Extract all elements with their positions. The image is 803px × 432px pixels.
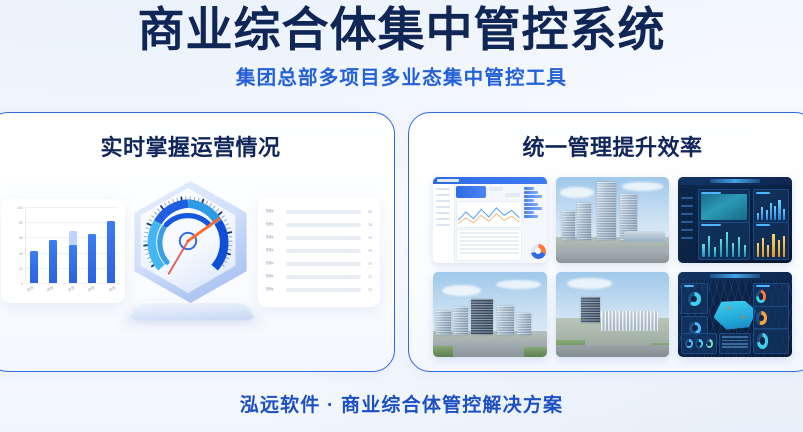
operations-card[interactable]: 实时掌握运营情况 100 80 60 bbox=[0, 112, 395, 372]
greenery-shape bbox=[524, 347, 547, 357]
bar-chart-bar bbox=[107, 221, 115, 283]
progress-row-label: 指标 bbox=[266, 287, 283, 292]
gauge-dial-icon bbox=[140, 193, 236, 289]
progress-list-row: 指标70 bbox=[266, 231, 372, 244]
thumb-board-title bbox=[710, 179, 760, 183]
bar-chart-ytick: 80 bbox=[19, 221, 23, 225]
building-shape bbox=[453, 307, 468, 335]
mini-bar-chart: 100 80 60 40 20 bbox=[1, 199, 125, 303]
thumb-nav-item bbox=[436, 218, 450, 220]
podium-shape bbox=[624, 231, 665, 242]
progress-row-label: 指标 bbox=[266, 274, 283, 279]
donut-gauge-icon bbox=[685, 339, 693, 348]
thumb-nav-item bbox=[681, 205, 693, 207]
thumb-map-image bbox=[701, 194, 747, 220]
thumb-titlebar bbox=[433, 177, 547, 184]
thumb-titlebar bbox=[678, 272, 792, 280]
thumb-table-row bbox=[459, 232, 519, 234]
gauge-pedestal bbox=[127, 302, 256, 321]
thumb-nav-item bbox=[436, 206, 450, 208]
cloud-shape bbox=[622, 182, 663, 191]
building-shape bbox=[471, 299, 494, 335]
management-card[interactable]: 统一管理提升效率 bbox=[408, 112, 803, 372]
thumb-nav-item bbox=[436, 194, 450, 196]
thumb-nav-item bbox=[436, 188, 450, 190]
thumb-bar bbox=[778, 200, 780, 221]
progress-row-track bbox=[286, 262, 361, 266]
thumb-bar bbox=[766, 210, 768, 220]
thumb-bar bbox=[726, 232, 728, 257]
building-shape bbox=[517, 313, 531, 335]
thumb-rank-bar bbox=[524, 211, 535, 214]
progress-row-label: 指标 bbox=[266, 261, 283, 266]
thumb-nav-item bbox=[681, 221, 693, 223]
thumb-gauge-panel bbox=[681, 283, 708, 314]
mini-progress-list: 指标92指标78指标70指标70指标70指标71指标70 bbox=[258, 197, 380, 307]
thumb-nav-item bbox=[436, 224, 450, 226]
thumb-titlebar bbox=[678, 177, 792, 185]
progress-list-row: 指标70 bbox=[266, 257, 372, 270]
thumb-nav-item bbox=[681, 237, 693, 239]
thumbnail-grid bbox=[433, 177, 792, 357]
donut-gauge-icon bbox=[757, 333, 769, 348]
thumb-nav-item bbox=[681, 197, 693, 199]
bar-chart-xlabel: 项目 bbox=[47, 285, 56, 293]
thumb-rank-bar bbox=[524, 191, 538, 194]
greenery-shape bbox=[433, 346, 453, 357]
bar-chart-ytick: 40 bbox=[19, 252, 23, 256]
thumb-line-chart bbox=[456, 201, 522, 228]
thumb-right-panel bbox=[524, 186, 547, 261]
building-shape bbox=[597, 182, 616, 240]
cloud-shape bbox=[560, 187, 594, 197]
thumb-sidebar bbox=[678, 185, 696, 263]
thumb-bar bbox=[738, 237, 740, 257]
thumb-table-row bbox=[459, 240, 519, 242]
progress-list-row: 指标78 bbox=[266, 218, 372, 231]
building-shape bbox=[497, 306, 514, 335]
thumb-rank-bar bbox=[524, 187, 534, 190]
progress-row-track bbox=[286, 210, 361, 214]
thumb-table-panel bbox=[719, 333, 751, 354]
progress-row-label: 指标 bbox=[266, 209, 283, 214]
thumb-dark-bi-board[interactable] bbox=[678, 177, 792, 263]
thumb-bar bbox=[744, 245, 746, 256]
thumb-bar bbox=[783, 209, 785, 221]
progress-row-label: 指标 bbox=[266, 248, 283, 253]
thumb-bar bbox=[708, 236, 710, 257]
thumb-table-row bbox=[722, 343, 748, 345]
thumb-main bbox=[456, 186, 522, 261]
thumb-hero-kpi bbox=[456, 186, 486, 198]
thumb-board-title bbox=[710, 274, 760, 278]
thumb-table-row bbox=[459, 236, 519, 238]
thumb-panel-title bbox=[701, 224, 721, 226]
bar-chart-ytick: 0 bbox=[21, 282, 23, 286]
bar-chart-bars bbox=[30, 207, 115, 283]
progress-row-label: 指标 bbox=[266, 235, 283, 240]
thumb-bar-panel bbox=[753, 189, 789, 223]
thumb-rank-bar bbox=[524, 195, 542, 198]
thumb-nav-item bbox=[681, 229, 693, 231]
thumb-rank-bar bbox=[524, 207, 542, 210]
thumb-donut-chart bbox=[531, 244, 546, 259]
cloud-shape bbox=[496, 280, 541, 289]
bar-chart-ytick: 60 bbox=[19, 236, 23, 240]
progress-row-track bbox=[286, 249, 361, 253]
progress-list-row: 指标70 bbox=[266, 283, 372, 296]
thumb-table-row bbox=[459, 244, 519, 246]
thumb-panel-title bbox=[756, 285, 770, 287]
building-shape bbox=[562, 211, 575, 240]
progress-list-row: 指标92 bbox=[266, 205, 372, 218]
thumb-nav-item bbox=[436, 200, 450, 202]
thumb-bar bbox=[772, 234, 774, 256]
operations-illustration: 100 80 60 40 20 bbox=[0, 175, 394, 371]
bar-chart-bar bbox=[88, 234, 96, 283]
thumb-table-row bbox=[722, 346, 748, 348]
thumb-table-row bbox=[722, 340, 748, 342]
bar-chart-xlabel: 项目 bbox=[67, 285, 76, 293]
donut-gauge-icon bbox=[756, 290, 766, 304]
thumb-expo-complex[interactable] bbox=[556, 272, 670, 358]
operation-gauge bbox=[118, 177, 264, 327]
donut-gauge-icon bbox=[688, 292, 701, 305]
bar-chart-bar bbox=[30, 251, 38, 283]
progress-row-track bbox=[286, 236, 361, 240]
donut-gauge-icon bbox=[756, 311, 767, 325]
thumb-bar bbox=[761, 207, 763, 220]
thumb-bar bbox=[702, 244, 704, 257]
thumb-table-row bbox=[722, 336, 748, 338]
progress-row-value: 70 bbox=[364, 262, 372, 266]
thumb-nav-item bbox=[436, 212, 450, 214]
thumb-bar bbox=[770, 203, 772, 220]
map-pin-icon bbox=[742, 316, 744, 318]
progress-list-row: 指标70 bbox=[266, 244, 372, 257]
thumb-kpi bbox=[505, 193, 519, 197]
thumb-rank-bar bbox=[524, 203, 538, 206]
management-card-title: 统一管理提升效率 bbox=[409, 113, 803, 161]
progress-row-track bbox=[286, 223, 361, 227]
thumb-sidebar bbox=[433, 184, 455, 263]
thumb-bars bbox=[757, 229, 785, 257]
thumb-nav-item bbox=[681, 213, 693, 215]
thumb-kpi bbox=[489, 187, 503, 191]
thumb-bar bbox=[732, 243, 734, 257]
operations-card-title: 实时掌握运营情况 bbox=[0, 113, 394, 161]
thumb-bar bbox=[778, 240, 780, 256]
thumb-table-row bbox=[459, 248, 519, 250]
thumb-panel-title bbox=[756, 192, 770, 194]
thumb-gauge-panel bbox=[753, 283, 789, 307]
building-shape bbox=[581, 297, 600, 323]
road-shape bbox=[556, 345, 670, 357]
bar-chart-bar bbox=[69, 245, 77, 283]
thumb-map-panel bbox=[698, 189, 750, 223]
progress-row-value: 70 bbox=[364, 236, 372, 240]
page-title: 商业综合体集中管控系统 bbox=[0, 0, 803, 58]
building-shape bbox=[436, 311, 451, 335]
thumb-rank-bar bbox=[524, 199, 535, 202]
thumb-bar-panel bbox=[753, 222, 789, 260]
progress-list-row: 指标71 bbox=[266, 270, 372, 283]
progress-row-value: 70 bbox=[364, 288, 372, 292]
thumb-bar bbox=[757, 213, 759, 220]
bar-chart-xlabels: 项目项目项目项目项目 bbox=[25, 287, 118, 292]
thumb-bar-panel bbox=[698, 222, 750, 260]
progress-row-track bbox=[286, 288, 361, 292]
bar-chart-ytick: 20 bbox=[19, 267, 23, 271]
thumb-gauge-panel bbox=[753, 306, 789, 330]
thumb-light-dashboard[interactable] bbox=[433, 177, 547, 263]
thumb-panel-title bbox=[684, 285, 694, 287]
progress-row-value: 78 bbox=[364, 223, 372, 227]
bar-chart-bar-ghost bbox=[69, 231, 77, 245]
footer-text: 泓远软件 · 商业综合体管控解决方案 bbox=[240, 390, 564, 417]
thumb-bar bbox=[757, 243, 759, 257]
thumb-bar bbox=[774, 206, 776, 221]
road-shape bbox=[556, 249, 670, 263]
poster-footer: 泓远软件 · 商业综合体管控解决方案 bbox=[0, 374, 803, 432]
thumb-office-park[interactable] bbox=[433, 272, 547, 358]
thumb-digital-twin[interactable] bbox=[678, 272, 792, 358]
thumb-rank-bar bbox=[524, 215, 539, 218]
cloud-shape bbox=[567, 278, 612, 288]
thumb-highrise-towers[interactable] bbox=[556, 177, 670, 263]
progress-row-value: 70 bbox=[364, 249, 372, 253]
progress-row-label: 指标 bbox=[266, 222, 283, 227]
thumb-bar bbox=[714, 247, 716, 257]
card-row: 实时掌握运营情况 100 80 60 bbox=[0, 112, 803, 372]
thumb-bars bbox=[702, 229, 746, 257]
progress-row-value: 92 bbox=[364, 210, 372, 214]
thumb-bar bbox=[720, 239, 722, 256]
donut-gauge-icon bbox=[706, 339, 714, 348]
bar-chart-plot: 100 80 60 40 20 bbox=[25, 207, 118, 284]
thumb-bars bbox=[757, 196, 785, 220]
thumb-table bbox=[456, 229, 522, 261]
page-subtitle: 集团总部多项目多业态集中管控工具 bbox=[0, 58, 803, 90]
donut-gauge-icon bbox=[695, 339, 703, 348]
bar-chart-xlabel: 项目 bbox=[88, 285, 97, 293]
thumb-bar bbox=[783, 236, 785, 256]
cloud-shape bbox=[442, 285, 481, 296]
thumb-bar bbox=[762, 238, 764, 257]
progress-row-value: 71 bbox=[364, 275, 372, 279]
poster-header: 商业综合体集中管控系统 集团总部多项目多业态集中管控工具 bbox=[0, 0, 803, 104]
thumb-gauge-panel bbox=[753, 328, 789, 354]
thumb-kpi-panel bbox=[681, 333, 717, 354]
bar-chart-xlabel: 项目 bbox=[108, 285, 117, 293]
progress-row-track bbox=[286, 275, 361, 279]
bar-chart-bar bbox=[49, 240, 57, 283]
thumb-table-row bbox=[459, 252, 519, 254]
bar-chart-xlabel: 项目 bbox=[26, 285, 35, 293]
poster-root: 商业综合体集中管控系统 集团总部多项目多业态集中管控工具 实时掌握运营情况 10… bbox=[0, 0, 803, 432]
bar-chart-ytick: 100 bbox=[17, 206, 23, 210]
building-shape bbox=[577, 203, 591, 241]
thumb-panel-title bbox=[756, 224, 770, 226]
thumb-bar bbox=[767, 245, 769, 256]
warehouse-shape bbox=[601, 311, 658, 332]
